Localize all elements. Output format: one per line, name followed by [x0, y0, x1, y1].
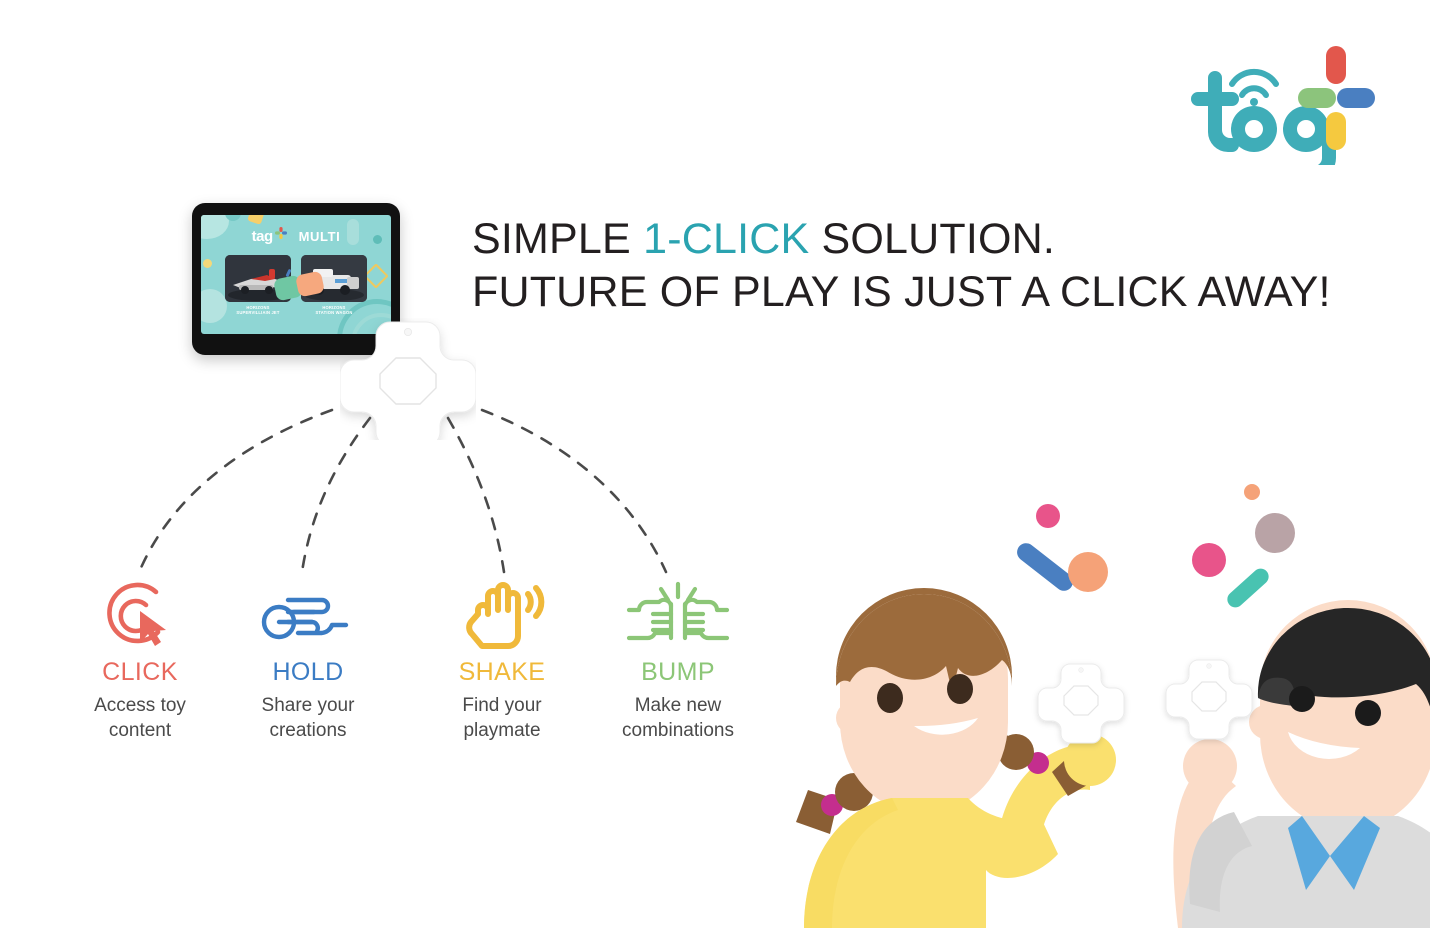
tablet-app-logo-wrap: tag MULTI [252, 227, 341, 247]
action-list: CLICK Access toy content [60, 580, 760, 760]
boy-eye-left [1289, 686, 1315, 712]
connector-to-click [140, 410, 332, 570]
action-desc-line-1: Find your [417, 693, 587, 718]
boy-ear [1249, 705, 1283, 739]
boy-hand [1183, 739, 1237, 793]
tablet-card-caption: HORIZONS STATION WAGON [298, 305, 370, 316]
characters-svg [790, 460, 1430, 928]
tablet-card-caption: HORIZONS SUPERVILLIAIN JET [222, 305, 294, 316]
tablet-app-logo-plus-icon [275, 227, 287, 239]
connector-to-hold [302, 418, 370, 572]
logo-plus-right [1337, 88, 1375, 108]
headline-pre: SIMPLE [472, 215, 643, 263]
hold-hand-press-icon [223, 580, 393, 652]
brand-logo-svg [1180, 40, 1390, 165]
confetti-dot [1068, 552, 1108, 592]
action-desc-line-2: content [55, 718, 225, 743]
boy-character [1166, 600, 1430, 928]
characters-illustration [790, 460, 1430, 928]
caption-line-2: STATION WAGON [298, 310, 370, 315]
action-item-bump[interactable]: BUMP Make new combinations [593, 580, 763, 743]
logo-plus-top [1326, 46, 1346, 84]
action-description: Access toy content [55, 693, 225, 743]
confetti-bar [1224, 565, 1272, 610]
confetti-bar [1013, 540, 1076, 595]
confetti-dot [1036, 504, 1060, 528]
action-desc-line-2: combinations [593, 718, 763, 743]
wifi-dot [1250, 98, 1258, 106]
bump-fist-bump-icon [593, 580, 763, 652]
logo-plus-bottom [1326, 112, 1346, 150]
tablet-app-logo-suffix: MULTI [299, 227, 341, 247]
tablet-app-logo: tag MULTI [201, 227, 391, 247]
girl-eye-right [947, 674, 973, 704]
logo-plus-left [1298, 88, 1336, 108]
connector-to-shake [448, 418, 504, 572]
logo-letter-a [1231, 106, 1277, 152]
action-title: SHAKE [417, 658, 587, 687]
headline-line-2: FUTURE OF PLAY IS JUST A CLICK AWAY! [472, 266, 1292, 319]
girl-character [796, 588, 1124, 928]
action-description: Make new combinations [593, 693, 763, 743]
tag-device[interactable] [1166, 660, 1252, 739]
connector-to-bump [482, 410, 666, 572]
action-item-click[interactable]: CLICK Access toy content [55, 580, 225, 743]
confetti-dot [1244, 484, 1260, 500]
action-title: BUMP [593, 658, 763, 687]
boy-eye-right [1355, 700, 1381, 726]
tag-device-svg [340, 318, 476, 440]
click-cursor-target-icon [55, 580, 225, 652]
brand-logo [1180, 40, 1390, 165]
headline-line-1: SIMPLE 1-CLICK SOLUTION. [472, 213, 1292, 266]
tablet-app-logo-text: tag [252, 227, 273, 247]
tag-device-led [404, 328, 411, 335]
action-title: CLICK [55, 658, 225, 687]
tag-device[interactable] [340, 318, 476, 440]
headline-post: SOLUTION. [809, 215, 1055, 263]
confetti-dot [1255, 513, 1295, 553]
girl-eye-left [877, 683, 903, 713]
action-desc-line-2: creations [223, 718, 393, 743]
shake-waving-hand-icon [417, 580, 587, 652]
action-desc-line-1: Share your [223, 693, 393, 718]
screen-decor-diamond [363, 263, 388, 288]
action-desc-line-1: Access toy [55, 693, 225, 718]
action-item-shake[interactable]: SHAKE Find your playmate [417, 580, 587, 743]
page-title: SIMPLE 1-CLICK SOLUTION. FUTURE OF PLAY … [472, 213, 1292, 319]
action-description: Share your creations [223, 693, 393, 743]
action-desc-line-1: Make new [593, 693, 763, 718]
headline-accent: 1-CLICK [643, 215, 809, 263]
confetti-dot [1192, 543, 1226, 577]
tag-device[interactable] [1038, 664, 1124, 743]
screen-decor-square [247, 215, 265, 225]
poster-canvas: SIMPLE 1-CLICK SOLUTION. FUTURE OF PLAY … [0, 0, 1430, 928]
action-desc-line-2: playmate [417, 718, 587, 743]
tablet-screen: tag MULTI [201, 215, 391, 334]
caption-line-2: SUPERVILLIAIN JET [222, 310, 294, 315]
action-title: HOLD [223, 658, 393, 687]
screen-decor-dot [203, 259, 212, 268]
action-item-hold[interactable]: HOLD Share your creations [223, 580, 393, 743]
wifi-arc-icon [1232, 72, 1276, 95]
action-description: Find your playmate [417, 693, 587, 743]
